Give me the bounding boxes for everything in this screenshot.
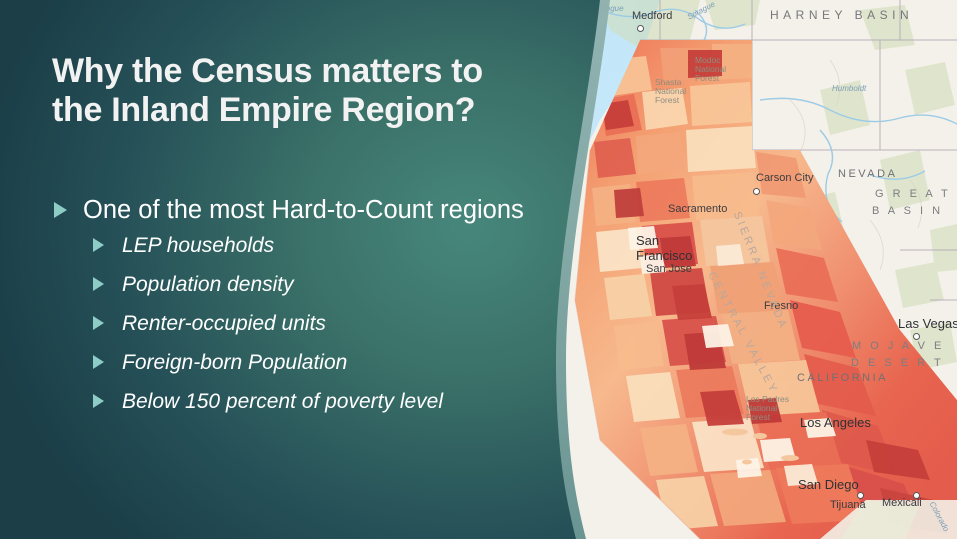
triangle-bullet-icon (93, 355, 104, 369)
bullet-level2-item-population-density: Population density (91, 272, 552, 297)
map-city-dot-tijuana (857, 492, 864, 499)
triangle-bullet-icon (93, 277, 104, 291)
slide: Rogue Sprague Medford HARNEY BASIN Modoc… (0, 0, 957, 539)
bullet-list: One of the most Hard-to-Count regions LE… (52, 193, 552, 428)
bullet-level2-label: Renter-occupied units (122, 311, 552, 336)
map-city-dot-mexicali (913, 492, 920, 499)
bullet-level2-label: Foreign-born Population (122, 350, 552, 375)
bullet-level2-item-renter-occupied-units: Renter-occupied units (91, 311, 552, 336)
bullet-level2-label: Population density (122, 272, 552, 297)
triangle-bullet-icon (93, 394, 104, 408)
bullet-level2-label: Below 150 percent of poverty level (122, 389, 552, 414)
triangle-bullet-icon (93, 238, 104, 252)
map-city-dot-las-vegas (913, 333, 920, 340)
bullet-level2-label: LEP households (122, 233, 552, 258)
map-city-dot-carson-city (753, 188, 760, 195)
page-title-line-2: the Inland Empire Region? (52, 91, 475, 129)
page-title: Why the Census matters to the Inland Emp… (52, 52, 542, 130)
map-city-dot-medford (637, 25, 644, 32)
bullet-level1-label: One of the most Hard-to-Count regions (83, 193, 552, 227)
bullet-level2-item-lep-households: LEP households (91, 233, 552, 258)
bullet-level2-item-below-150-percent-poverty: Below 150 percent of poverty level (91, 389, 552, 414)
page-title-line-1: Why the Census matters to (52, 52, 483, 90)
triangle-bullet-icon (54, 202, 67, 218)
bullet-level2-item-foreign-born-population: Foreign-born Population (91, 350, 552, 375)
triangle-bullet-icon (93, 316, 104, 330)
bullet-level1-item: One of the most Hard-to-Count regions (52, 193, 552, 227)
slide-content: Why the Census matters to the Inland Emp… (0, 0, 560, 539)
